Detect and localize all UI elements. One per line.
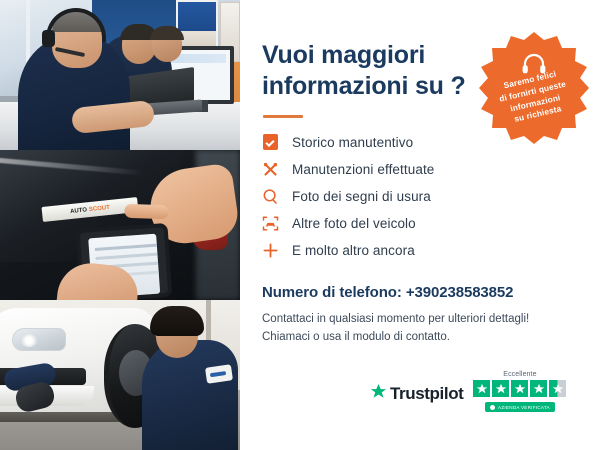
call-center-agents-photo [0, 0, 240, 150]
vehicle-inspection-photo: AUTO SCOUT [0, 150, 240, 300]
verified-label: AZIENDA VERIFICATA [498, 405, 550, 410]
title-underline-rule [263, 115, 303, 118]
mechanic-hair [150, 306, 204, 336]
contact-line-2: Chiamaci o usa il modulo di contatto. [262, 331, 450, 343]
star-filled [530, 380, 547, 397]
trustpilot-widget[interactable]: Trustpilot Eccellente [370, 371, 566, 412]
phone-number[interactable]: Numero di telefono: +390238583852 [262, 284, 582, 301]
magnifier-icon [262, 188, 279, 205]
promo-banner: AUTO SCOUT [0, 0, 600, 450]
rating-label: Eccellente [503, 371, 536, 378]
plus-icon [262, 242, 279, 259]
page-title-line-1: Vuoi maggiori [262, 41, 425, 69]
headset-earcup [42, 30, 55, 47]
feature-label: Altre foto del veicolo [292, 216, 416, 231]
mechanic-garage-photo [0, 300, 240, 450]
photo-column: AUTO SCOUT [0, 0, 240, 450]
trustpilot-wordmark: Trustpilot [390, 384, 463, 404]
feature-label: Manutenzioni effettuate [292, 162, 434, 177]
star-filled [473, 380, 490, 397]
car-frame-icon [262, 215, 279, 232]
feature-item-altre-foto: Altre foto del veicolo [262, 210, 582, 237]
trustpilot-rating: Eccellente [473, 371, 566, 412]
label-text-primary: AUTO [70, 207, 87, 215]
trustpilot-brand: Trustpilot [370, 383, 463, 412]
feature-list: Storico manutentivo Manutenzioni effettu… [262, 129, 582, 264]
trustpilot-star-icon [370, 383, 387, 405]
car-headlight [12, 328, 66, 351]
inspector-finger [124, 204, 168, 220]
star-filled [492, 380, 509, 397]
contact-line-1: Contattaci in qualsiasi momento per ulte… [262, 313, 529, 325]
page-title-line-2: informazioni su ? [262, 72, 466, 100]
mechanic-body [142, 340, 238, 450]
feature-label: Storico manutentivo [292, 135, 413, 150]
star-half [549, 380, 566, 397]
page-title: Vuoi maggiori informazioni su ? [262, 40, 467, 103]
content-panel: Vuoi maggiori informazioni su ? Storico … [240, 0, 600, 450]
feature-item-altro-ancora: E molto altro ancora [262, 237, 582, 264]
feature-label: E molto altro ancora [292, 243, 415, 258]
tools-cross-icon [262, 161, 279, 178]
contact-instructions: Contattaci in qualsiasi momento per ulte… [262, 310, 582, 346]
checkbox-icon [262, 134, 279, 151]
wall-poster [176, 0, 218, 52]
feature-item-foto-usura: Foto dei segni di usura [262, 183, 582, 210]
feature-item-manutenzioni: Manutenzioni effettuate [262, 156, 582, 183]
promo-burst-badge: Saremo felici di fornirti queste informa… [476, 30, 592, 146]
status-badge: AZIENDA VERIFICATA [485, 402, 555, 412]
feature-label: Foto dei segni di usura [292, 189, 431, 204]
label-text-accent: SCOUT [89, 204, 111, 212]
star-filled [511, 380, 528, 397]
star-rating [473, 380, 566, 397]
check-circle-icon [490, 405, 495, 410]
